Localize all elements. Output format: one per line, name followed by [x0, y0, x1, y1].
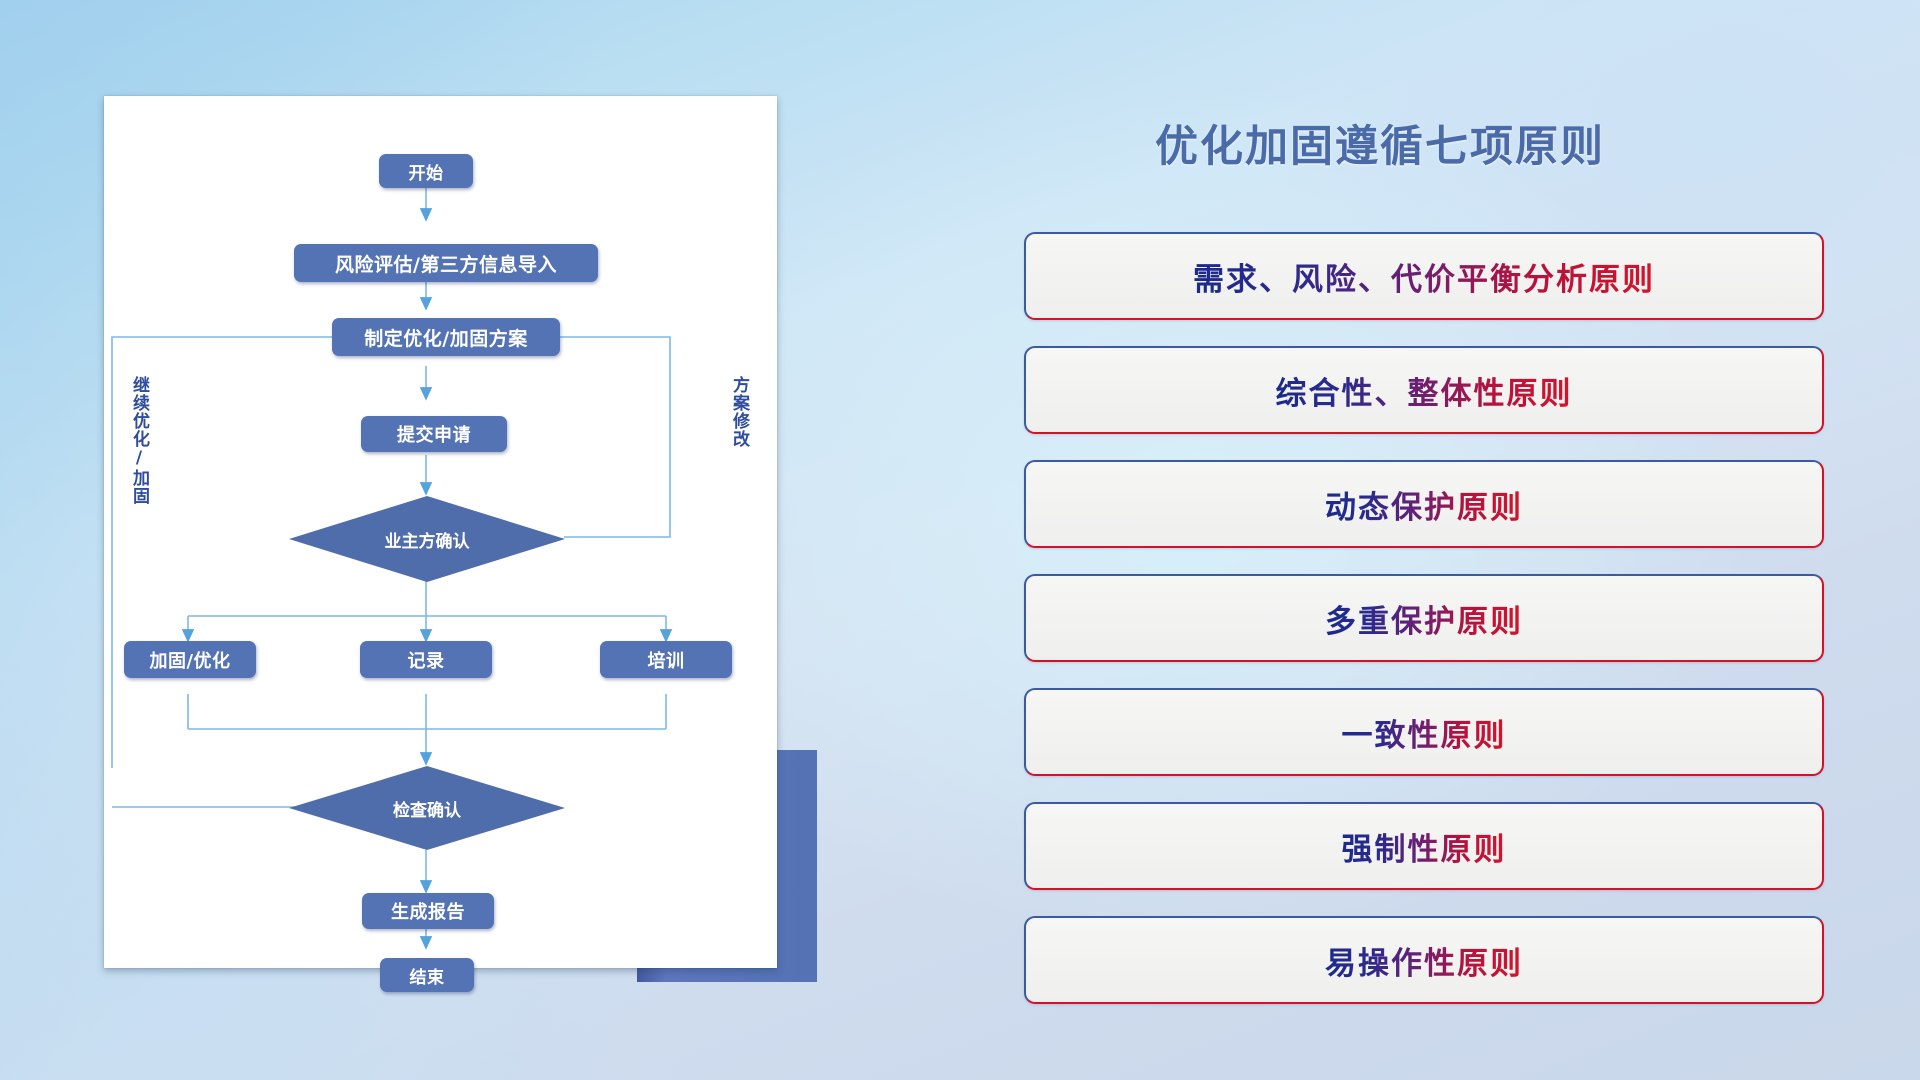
- flow-node-generate-report[interactable]: 生成报告: [362, 893, 494, 929]
- principle-label: 动态保护原则: [1325, 482, 1523, 527]
- principle-card-1[interactable]: 需求、风险、代价平衡分析原则: [1024, 232, 1824, 320]
- principle-label: 易操作性原则: [1325, 938, 1523, 983]
- principle-card-7[interactable]: 易操作性原则: [1024, 916, 1824, 1004]
- flow-node-label: 生成报告: [391, 898, 465, 924]
- flow-node-end[interactable]: 结束: [380, 958, 474, 992]
- principle-label: 强制性原则: [1342, 824, 1507, 869]
- flow-node-start[interactable]: 开始: [379, 154, 473, 188]
- principle-label: 需求、风险、代价平衡分析原则: [1193, 254, 1655, 299]
- principle-card-3[interactable]: 动态保护原则: [1024, 460, 1824, 548]
- flow-node-label: 记录: [408, 647, 445, 673]
- flow-node-label: 检查确认: [393, 796, 461, 821]
- flow-node-label: 提交申请: [397, 421, 471, 447]
- principle-card-4[interactable]: 多重保护原则: [1024, 574, 1824, 662]
- flow-node-label: 开始: [409, 159, 444, 184]
- principle-card-5[interactable]: 一致性原则: [1024, 688, 1824, 776]
- principles-list: 需求、风险、代价平衡分析原则 综合性、整体性原则 动态保护原则 多重保护原则 一…: [1024, 232, 1824, 1004]
- flow-edge-label-continue-optimize: 继续优化/加固: [127, 376, 152, 505]
- flow-edge-label-plan-revision: 方案修改: [727, 376, 752, 448]
- flow-node-label: 结束: [410, 963, 445, 988]
- principle-card-6[interactable]: 强制性原则: [1024, 802, 1824, 890]
- flow-node-training[interactable]: 培训: [600, 641, 732, 678]
- flow-node-label: 培训: [648, 647, 685, 673]
- flow-node-label: 业主方确认: [385, 527, 470, 552]
- flow-node-label: 制定优化/加固方案: [364, 324, 527, 351]
- flow-node-risk-assessment[interactable]: 风险评估/第三方信息导入: [294, 244, 598, 282]
- principle-card-2[interactable]: 综合性、整体性原则: [1024, 346, 1824, 434]
- flow-node-record[interactable]: 记录: [360, 641, 492, 678]
- principle-label: 综合性、整体性原则: [1276, 368, 1573, 413]
- flow-node-label: 风险评估/第三方信息导入: [335, 250, 557, 277]
- flow-node-make-plan[interactable]: 制定优化/加固方案: [332, 318, 560, 356]
- principle-label: 多重保护原则: [1325, 596, 1523, 641]
- flow-node-submit-application[interactable]: 提交申请: [361, 416, 507, 452]
- flow-node-label: 加固/优化: [149, 647, 230, 673]
- flow-node-reinforce-optimize[interactable]: 加固/优化: [124, 641, 256, 678]
- page-title: 优化加固遵循七项原则: [1155, 112, 1605, 174]
- flowchart-panel: 开始 风险评估/第三方信息导入 制定优化/加固方案 提交申请 业主方确认 加固/…: [104, 96, 777, 968]
- principle-label: 一致性原则: [1342, 710, 1507, 755]
